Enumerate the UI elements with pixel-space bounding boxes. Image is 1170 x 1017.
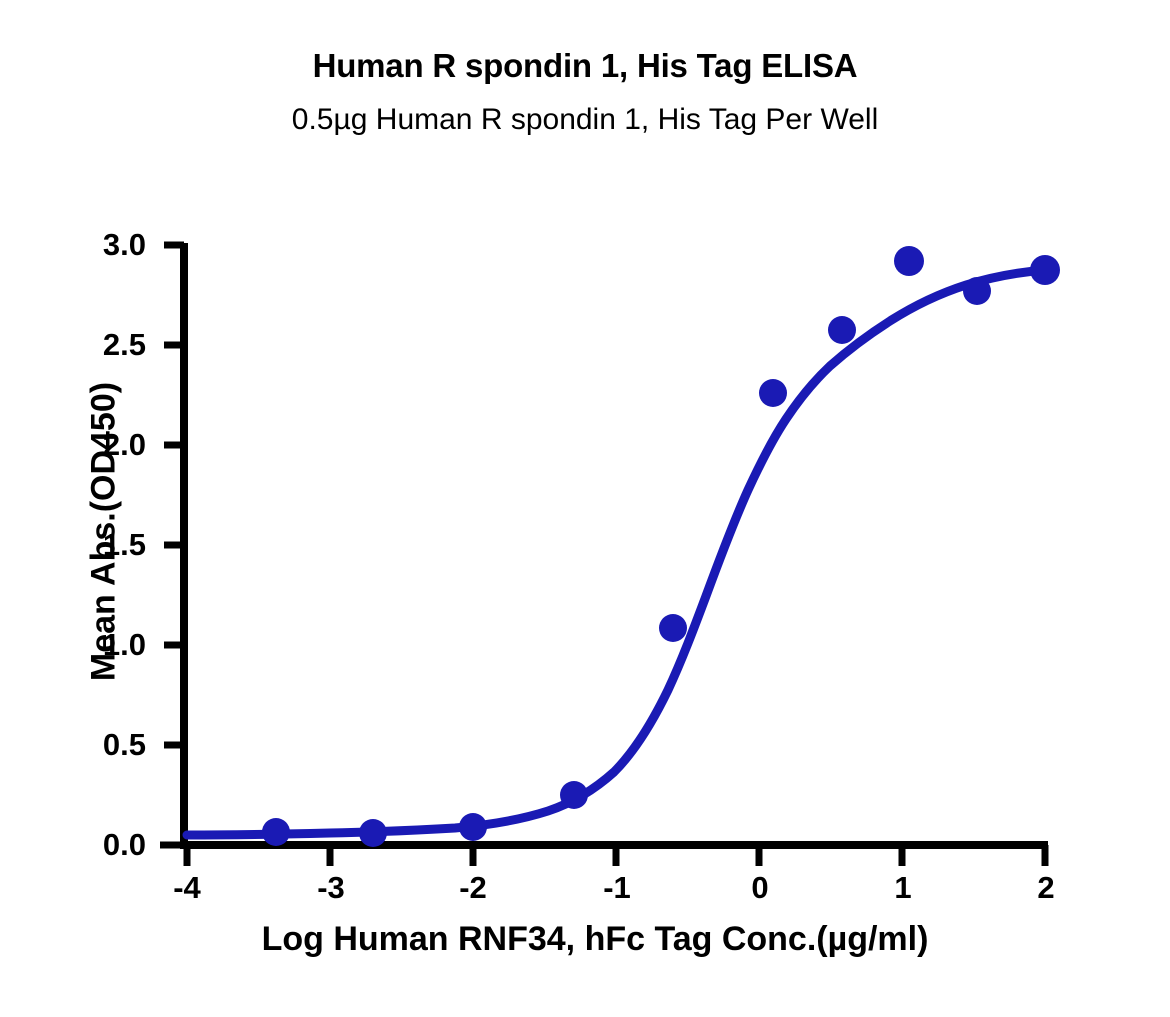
data-point <box>963 277 991 305</box>
data-points <box>262 246 1060 847</box>
data-point <box>894 246 924 276</box>
data-point <box>262 818 290 846</box>
data-point <box>359 819 387 847</box>
data-point <box>828 316 856 344</box>
plot-area <box>0 0 1170 1017</box>
data-point <box>560 781 588 809</box>
elisa-chart-figure: Human R spondin 1, His Tag ELISA 0.5µg H… <box>0 0 1170 1017</box>
data-point <box>1030 255 1060 285</box>
data-point <box>659 614 687 642</box>
data-point <box>459 813 487 841</box>
fit-curve <box>187 270 1046 835</box>
data-point <box>759 379 787 407</box>
